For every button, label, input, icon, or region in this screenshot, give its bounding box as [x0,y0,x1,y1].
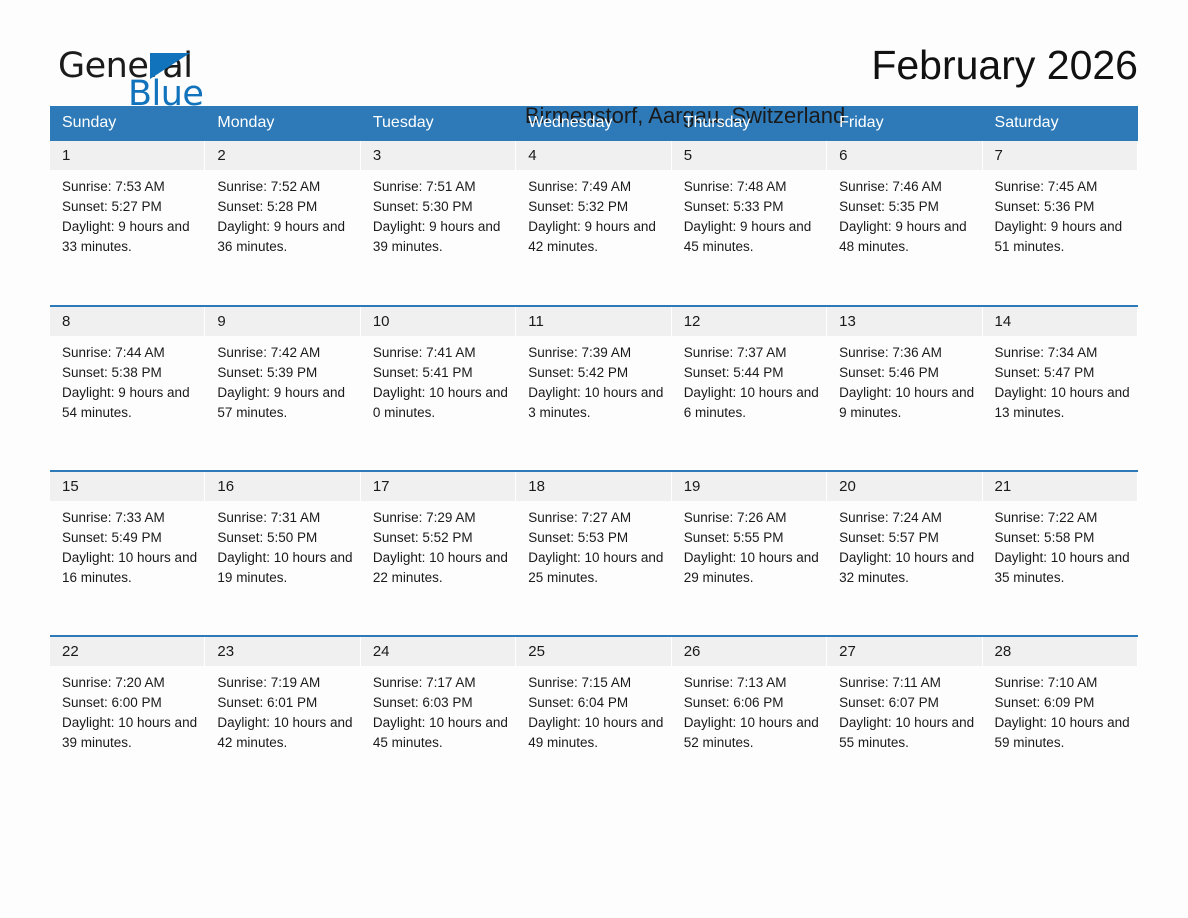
day-details: Sunrise: 7:48 AM Sunset: 5:33 PM Dayligh… [672,170,827,257]
day-cell[interactable]: 18 Sunrise: 7:27 AM Sunset: 5:53 PM Dayl… [516,471,671,636]
day-details: Sunrise: 7:36 AM Sunset: 5:46 PM Dayligh… [827,336,982,423]
day-details: Sunrise: 7:42 AM Sunset: 5:39 PM Dayligh… [205,336,360,423]
day-details: Sunrise: 7:49 AM Sunset: 5:32 PM Dayligh… [516,170,671,257]
day-cell[interactable]: 19 Sunrise: 7:26 AM Sunset: 5:55 PM Dayl… [672,471,827,636]
sunrise-text: Sunrise: 7:44 AM [62,343,199,363]
sunrise-text: Sunrise: 7:27 AM [528,508,665,528]
daylight-text: Daylight: 10 hours and 39 minutes. [62,713,199,753]
day-details: Sunrise: 7:39 AM Sunset: 5:42 PM Dayligh… [516,336,671,423]
week-row: 15 Sunrise: 7:33 AM Sunset: 5:49 PM Dayl… [50,471,1138,636]
day-details: Sunrise: 7:11 AM Sunset: 6:07 PM Dayligh… [827,666,982,753]
day-number: 16 [205,472,360,501]
day-number: 1 [50,141,205,170]
day-number: 8 [50,307,205,336]
day-cell[interactable]: 24 Sunrise: 7:17 AM Sunset: 6:03 PM Dayl… [361,636,516,801]
day-details: Sunrise: 7:33 AM Sunset: 5:49 PM Dayligh… [50,501,205,588]
sunset-text: Sunset: 6:07 PM [839,693,976,713]
day-number: 24 [361,637,516,666]
day-number: 13 [827,307,982,336]
daylight-text: Daylight: 10 hours and 59 minutes. [995,713,1132,753]
week-row: 8 Sunrise: 7:44 AM Sunset: 5:38 PM Dayli… [50,306,1138,471]
daylight-text: Daylight: 10 hours and 45 minutes. [373,713,510,753]
sunrise-sunset-calendar: Sunday Monday Tuesday Wednesday Thursday… [50,106,1138,801]
day-number: 15 [50,472,205,501]
sunset-text: Sunset: 5:38 PM [62,363,199,383]
daylight-text: Daylight: 10 hours and 25 minutes. [528,548,665,588]
day-cell[interactable]: 4 Sunrise: 7:49 AM Sunset: 5:32 PM Dayli… [516,141,671,306]
sunset-text: Sunset: 5:28 PM [217,197,354,217]
day-number: 9 [205,307,360,336]
sunset-text: Sunset: 5:41 PM [373,363,510,383]
sunset-text: Sunset: 6:06 PM [684,693,821,713]
sunset-text: Sunset: 5:42 PM [528,363,665,383]
daylight-text: Daylight: 9 hours and 57 minutes. [217,383,354,423]
page-header: General Blue February 2026 Birmenstorf, … [50,0,1138,92]
sunrise-text: Sunrise: 7:19 AM [217,673,354,693]
day-details: Sunrise: 7:15 AM Sunset: 6:04 PM Dayligh… [516,666,671,753]
sunrise-text: Sunrise: 7:52 AM [217,177,354,197]
day-details: Sunrise: 7:51 AM Sunset: 5:30 PM Dayligh… [361,170,516,257]
daylight-text: Daylight: 10 hours and 0 minutes. [373,383,510,423]
sunset-text: Sunset: 6:01 PM [217,693,354,713]
day-number: 4 [516,141,671,170]
sunset-text: Sunset: 6:03 PM [373,693,510,713]
sunset-text: Sunset: 5:46 PM [839,363,976,383]
day-number: 17 [361,472,516,501]
day-cell[interactable]: 5 Sunrise: 7:48 AM Sunset: 5:33 PM Dayli… [672,141,827,306]
sunset-text: Sunset: 6:09 PM [995,693,1132,713]
sunrise-text: Sunrise: 7:20 AM [62,673,199,693]
logo-text-blue: Blue [128,74,203,114]
sunset-text: Sunset: 5:27 PM [62,197,199,217]
day-cell[interactable]: 3 Sunrise: 7:51 AM Sunset: 5:30 PM Dayli… [361,141,516,306]
day-number: 5 [672,141,827,170]
week-row: 22 Sunrise: 7:20 AM Sunset: 6:00 PM Dayl… [50,636,1138,801]
day-details: Sunrise: 7:27 AM Sunset: 5:53 PM Dayligh… [516,501,671,588]
sunset-text: Sunset: 5:33 PM [684,197,821,217]
day-number: 10 [361,307,516,336]
day-cell[interactable]: 13 Sunrise: 7:36 AM Sunset: 5:46 PM Dayl… [827,306,982,471]
sunrise-text: Sunrise: 7:49 AM [528,177,665,197]
sunrise-text: Sunrise: 7:39 AM [528,343,665,363]
day-number: 3 [361,141,516,170]
sunrise-text: Sunrise: 7:13 AM [684,673,821,693]
daylight-text: Daylight: 9 hours and 51 minutes. [995,217,1132,257]
daylight-text: Daylight: 9 hours and 39 minutes. [373,217,510,257]
day-cell[interactable]: 25 Sunrise: 7:15 AM Sunset: 6:04 PM Dayl… [516,636,671,801]
day-cell[interactable]: 1 Sunrise: 7:53 AM Sunset: 5:27 PM Dayli… [50,141,205,306]
sunrise-text: Sunrise: 7:33 AM [62,508,199,528]
day-details: Sunrise: 7:10 AM Sunset: 6:09 PM Dayligh… [983,666,1138,753]
day-details: Sunrise: 7:13 AM Sunset: 6:06 PM Dayligh… [672,666,827,753]
daylight-text: Daylight: 9 hours and 54 minutes. [62,383,199,423]
day-number: 18 [516,472,671,501]
sunset-text: Sunset: 5:53 PM [528,528,665,548]
day-cell[interactable]: 12 Sunrise: 7:37 AM Sunset: 5:44 PM Dayl… [672,306,827,471]
day-cell[interactable]: 28 Sunrise: 7:10 AM Sunset: 6:09 PM Dayl… [983,636,1138,801]
day-details: Sunrise: 7:44 AM Sunset: 5:38 PM Dayligh… [50,336,205,423]
sunrise-text: Sunrise: 7:41 AM [373,343,510,363]
daylight-text: Daylight: 10 hours and 35 minutes. [995,548,1132,588]
sunrise-text: Sunrise: 7:46 AM [839,177,976,197]
day-cell[interactable]: 14 Sunrise: 7:34 AM Sunset: 5:47 PM Dayl… [983,306,1138,471]
daylight-text: Daylight: 9 hours and 45 minutes. [684,217,821,257]
sunset-text: Sunset: 5:55 PM [684,528,821,548]
daylight-text: Daylight: 10 hours and 22 minutes. [373,548,510,588]
daylight-text: Daylight: 10 hours and 55 minutes. [839,713,976,753]
day-cell[interactable]: 2 Sunrise: 7:52 AM Sunset: 5:28 PM Dayli… [205,141,360,306]
day-cell[interactable]: 20 Sunrise: 7:24 AM Sunset: 5:57 PM Dayl… [827,471,982,636]
day-number: 12 [672,307,827,336]
page-title: February 2026 [240,44,1138,87]
daylight-text: Daylight: 10 hours and 42 minutes. [217,713,354,753]
calendar-page: General Blue February 2026 Birmenstorf, … [0,0,1188,918]
daylight-text: Daylight: 10 hours and 13 minutes. [995,383,1132,423]
day-details: Sunrise: 7:29 AM Sunset: 5:52 PM Dayligh… [361,501,516,588]
day-cell[interactable]: 26 Sunrise: 7:13 AM Sunset: 6:06 PM Dayl… [672,636,827,801]
sunrise-text: Sunrise: 7:51 AM [373,177,510,197]
day-details: Sunrise: 7:34 AM Sunset: 5:47 PM Dayligh… [983,336,1138,423]
day-cell[interactable]: 7 Sunrise: 7:45 AM Sunset: 5:36 PM Dayli… [983,141,1138,306]
day-details: Sunrise: 7:17 AM Sunset: 6:03 PM Dayligh… [361,666,516,753]
sunset-text: Sunset: 5:39 PM [217,363,354,383]
week-row: 1 Sunrise: 7:53 AM Sunset: 5:27 PM Dayli… [50,141,1138,306]
day-details: Sunrise: 7:20 AM Sunset: 6:00 PM Dayligh… [50,666,205,753]
day-number: 6 [827,141,982,170]
daylight-text: Daylight: 9 hours and 33 minutes. [62,217,199,257]
daylight-text: Daylight: 10 hours and 52 minutes. [684,713,821,753]
day-number: 26 [672,637,827,666]
day-details: Sunrise: 7:45 AM Sunset: 5:36 PM Dayligh… [983,170,1138,257]
sunrise-text: Sunrise: 7:15 AM [528,673,665,693]
day-number: 7 [983,141,1138,170]
sunrise-text: Sunrise: 7:31 AM [217,508,354,528]
day-cell[interactable]: 11 Sunrise: 7:39 AM Sunset: 5:42 PM Dayl… [516,306,671,471]
day-number: 25 [516,637,671,666]
sunset-text: Sunset: 5:58 PM [995,528,1132,548]
daylight-text: Daylight: 9 hours and 36 minutes. [217,217,354,257]
sunset-text: Sunset: 5:50 PM [217,528,354,548]
daylight-text: Daylight: 10 hours and 49 minutes. [528,713,665,753]
sunrise-text: Sunrise: 7:29 AM [373,508,510,528]
day-cell[interactable]: 21 Sunrise: 7:22 AM Sunset: 5:58 PM Dayl… [983,471,1138,636]
daylight-text: Daylight: 10 hours and 9 minutes. [839,383,976,423]
daylight-text: Daylight: 10 hours and 19 minutes. [217,548,354,588]
day-cell[interactable]: 16 Sunrise: 7:31 AM Sunset: 5:50 PM Dayl… [205,471,360,636]
sunrise-text: Sunrise: 7:22 AM [995,508,1132,528]
daylight-text: Daylight: 9 hours and 48 minutes. [839,217,976,257]
day-cell[interactable]: 27 Sunrise: 7:11 AM Sunset: 6:07 PM Dayl… [827,636,982,801]
day-number: 22 [50,637,205,666]
day-details: Sunrise: 7:52 AM Sunset: 5:28 PM Dayligh… [205,170,360,257]
day-details: Sunrise: 7:46 AM Sunset: 5:35 PM Dayligh… [827,170,982,257]
day-cell[interactable]: 23 Sunrise: 7:19 AM Sunset: 6:01 PM Dayl… [205,636,360,801]
sunset-text: Sunset: 5:49 PM [62,528,199,548]
day-number: 14 [983,307,1138,336]
day-number: 27 [827,637,982,666]
day-cell[interactable]: 15 Sunrise: 7:33 AM Sunset: 5:49 PM Dayl… [50,471,205,636]
sunset-text: Sunset: 5:44 PM [684,363,821,383]
sunset-text: Sunset: 5:35 PM [839,197,976,217]
sunset-text: Sunset: 5:36 PM [995,197,1132,217]
generalblue-logo[interactable]: General Blue [50,44,240,116]
sunrise-text: Sunrise: 7:45 AM [995,177,1132,197]
day-cell[interactable]: 6 Sunrise: 7:46 AM Sunset: 5:35 PM Dayli… [827,141,982,306]
day-number: 21 [983,472,1138,501]
daylight-text: Daylight: 9 hours and 42 minutes. [528,217,665,257]
sunrise-text: Sunrise: 7:24 AM [839,508,976,528]
daylight-text: Daylight: 10 hours and 3 minutes. [528,383,665,423]
day-number: 19 [672,472,827,501]
sunrise-text: Sunrise: 7:37 AM [684,343,821,363]
daylight-text: Daylight: 10 hours and 32 minutes. [839,548,976,588]
sunrise-text: Sunrise: 7:10 AM [995,673,1132,693]
day-details: Sunrise: 7:53 AM Sunset: 5:27 PM Dayligh… [50,170,205,257]
sunrise-text: Sunrise: 7:34 AM [995,343,1132,363]
sunset-text: Sunset: 5:52 PM [373,528,510,548]
sunset-text: Sunset: 6:00 PM [62,693,199,713]
day-number: 2 [205,141,360,170]
sunrise-text: Sunrise: 7:53 AM [62,177,199,197]
sunset-text: Sunset: 5:32 PM [528,197,665,217]
day-number: 11 [516,307,671,336]
sunrise-text: Sunrise: 7:48 AM [684,177,821,197]
sunset-text: Sunset: 6:04 PM [528,693,665,713]
sunset-text: Sunset: 5:30 PM [373,197,510,217]
sunrise-text: Sunrise: 7:42 AM [217,343,354,363]
day-details: Sunrise: 7:22 AM Sunset: 5:58 PM Dayligh… [983,501,1138,588]
day-details: Sunrise: 7:24 AM Sunset: 5:57 PM Dayligh… [827,501,982,588]
day-details: Sunrise: 7:37 AM Sunset: 5:44 PM Dayligh… [672,336,827,423]
daylight-text: Daylight: 10 hours and 6 minutes. [684,383,821,423]
sunset-text: Sunset: 5:57 PM [839,528,976,548]
day-cell[interactable]: 9 Sunrise: 7:42 AM Sunset: 5:39 PM Dayli… [205,306,360,471]
day-number: 28 [983,637,1138,666]
day-details: Sunrise: 7:26 AM Sunset: 5:55 PM Dayligh… [672,501,827,588]
day-cell[interactable]: 22 Sunrise: 7:20 AM Sunset: 6:00 PM Dayl… [50,636,205,801]
day-cell[interactable]: 17 Sunrise: 7:29 AM Sunset: 5:52 PM Dayl… [361,471,516,636]
sunrise-text: Sunrise: 7:26 AM [684,508,821,528]
day-number: 20 [827,472,982,501]
day-cell[interactable]: 8 Sunrise: 7:44 AM Sunset: 5:38 PM Dayli… [50,306,205,471]
day-details: Sunrise: 7:31 AM Sunset: 5:50 PM Dayligh… [205,501,360,588]
sunrise-text: Sunrise: 7:17 AM [373,673,510,693]
day-details: Sunrise: 7:41 AM Sunset: 5:41 PM Dayligh… [361,336,516,423]
day-cell[interactable]: 10 Sunrise: 7:41 AM Sunset: 5:41 PM Dayl… [361,306,516,471]
daylight-text: Daylight: 10 hours and 16 minutes. [62,548,199,588]
sunrise-text: Sunrise: 7:11 AM [839,673,976,693]
sunrise-text: Sunrise: 7:36 AM [839,343,976,363]
daylight-text: Daylight: 10 hours and 29 minutes. [684,548,821,588]
day-number: 23 [205,637,360,666]
sunset-text: Sunset: 5:47 PM [995,363,1132,383]
day-details: Sunrise: 7:19 AM Sunset: 6:01 PM Dayligh… [205,666,360,753]
